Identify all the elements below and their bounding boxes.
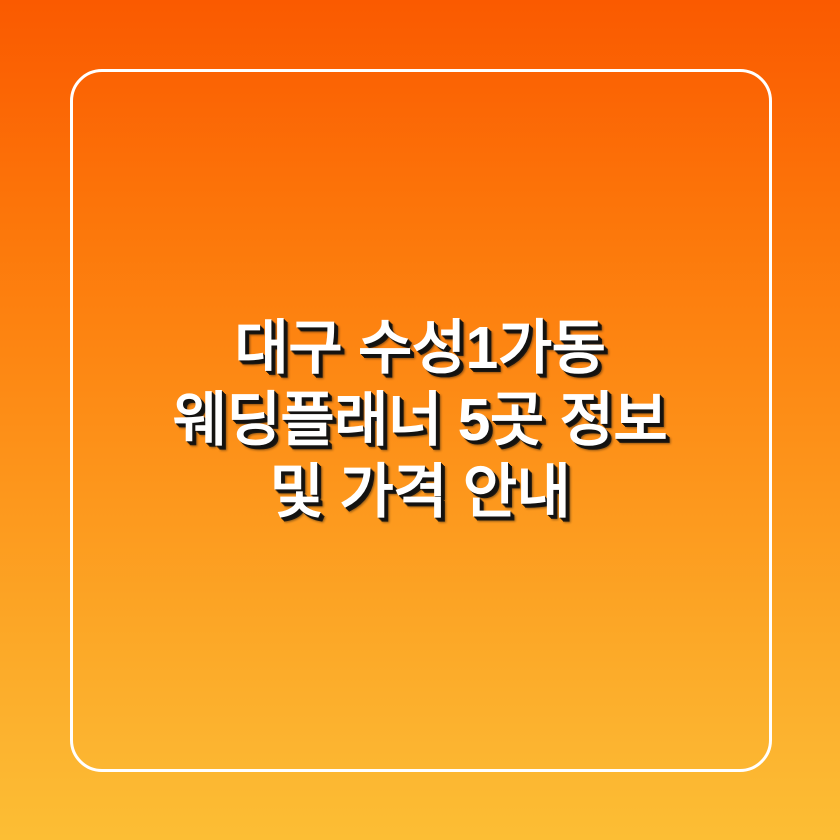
title-line-2: 웨딩플래너 5곳 정보 [96,384,744,456]
title-line-1: 대구 수성1가동 [96,312,744,384]
promo-card: 대구 수성1가동 웨딩플래너 5곳 정보 및 가격 안내 [0,0,840,840]
title-line-3: 및 가격 안내 [96,456,744,528]
title-block: 대구 수성1가동 웨딩플래너 5곳 정보 및 가격 안내 [0,0,840,840]
